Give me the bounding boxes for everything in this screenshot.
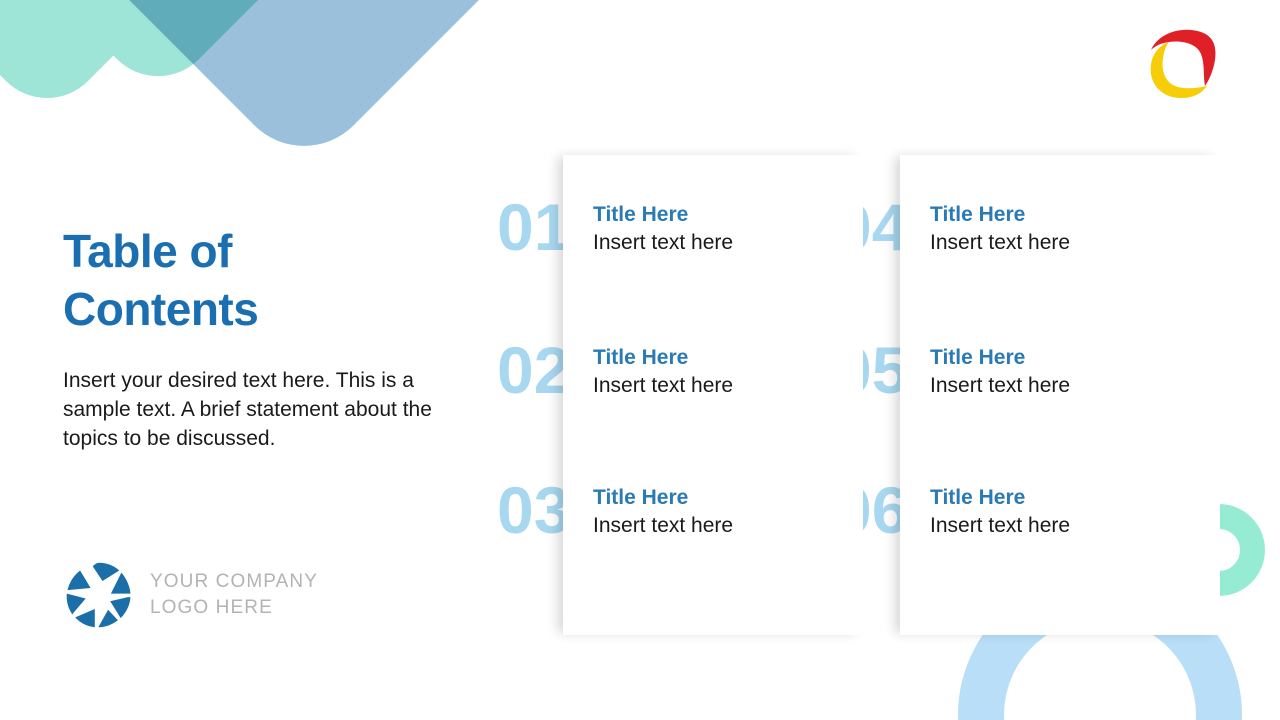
company-logo: YOUR COMPANY LOGO HERE (64, 560, 318, 630)
company-logo-text: YOUR COMPANY LOGO HERE (150, 569, 318, 621)
toc-item-04[interactable]: Title Here Insert text here (930, 202, 1180, 258)
company-logo-line-2: LOGO HERE (150, 597, 273, 618)
toc-item-01[interactable]: Title Here Insert text here (593, 202, 843, 258)
toc-item-06-subtitle: Insert text here (930, 511, 1180, 541)
brand-logo-mark (1143, 24, 1223, 104)
toc-item-06[interactable]: Title Here Insert text here (930, 485, 1180, 541)
toc-item-03-title: Title Here (593, 485, 843, 511)
toc-item-03[interactable]: Title Here Insert text here (593, 485, 843, 541)
page-title: Table of Contents (63, 222, 483, 338)
toc-item-04-title: Title Here (930, 202, 1180, 228)
toc-item-05-title: Title Here (930, 345, 1180, 371)
lead-paragraph: Insert your desired text here. This is a… (63, 366, 433, 453)
toc-item-04-subtitle: Insert text here (930, 228, 1180, 258)
toc-item-02-subtitle: Insert text here (593, 371, 843, 401)
company-logo-line-1: YOUR COMPANY (150, 571, 318, 592)
item-number-03: 03 (497, 477, 570, 543)
toc-item-01-title: Title Here (593, 202, 843, 228)
camera-aperture-icon (64, 560, 134, 630)
item-number-01: 01 (497, 194, 570, 260)
item-number-02: 02 (497, 337, 570, 403)
toc-item-05[interactable]: Title Here Insert text here (930, 345, 1180, 401)
toc-item-03-subtitle: Insert text here (593, 511, 843, 541)
page-title-line-2: Contents (63, 280, 483, 338)
toc-item-05-subtitle: Insert text here (930, 371, 1180, 401)
slide-canvas: Table of Contents Insert your desired te… (0, 0, 1280, 720)
toc-item-06-title: Title Here (930, 485, 1180, 511)
page-title-line-1: Table of (63, 222, 483, 280)
toc-item-01-subtitle: Insert text here (593, 228, 843, 258)
toc-item-02-title: Title Here (593, 345, 843, 371)
toc-item-02[interactable]: Title Here Insert text here (593, 345, 843, 401)
